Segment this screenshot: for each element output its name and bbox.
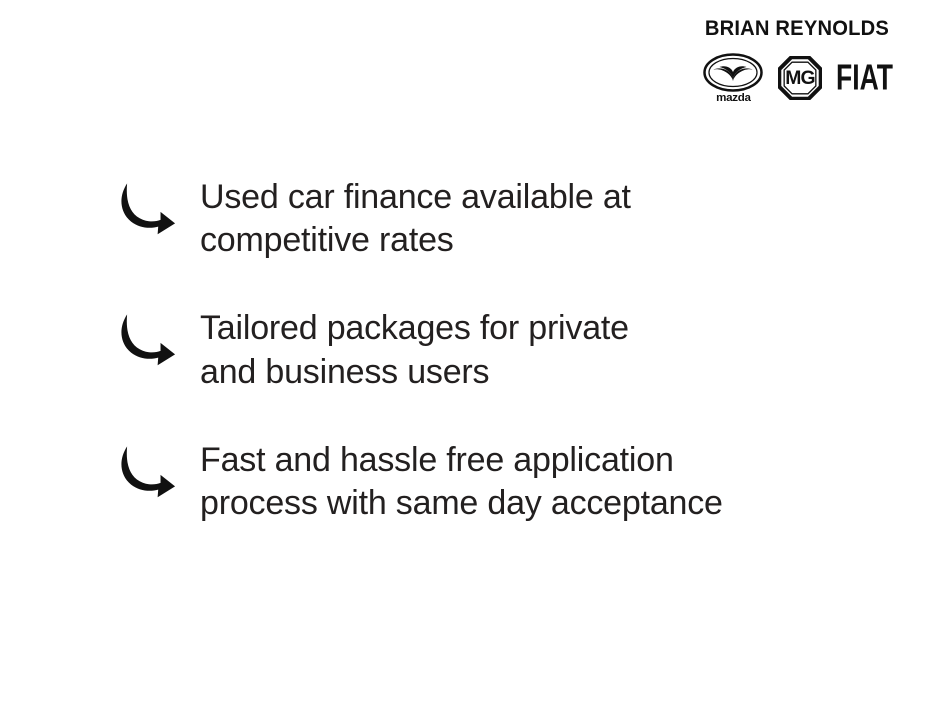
list-item: Fast and hassle free application process… <box>115 439 875 525</box>
curved-arrow-icon <box>115 309 177 371</box>
benefits-list: Used car finance available at competitiv… <box>115 176 875 525</box>
list-item-text: Fast and hassle free application process… <box>200 439 875 525</box>
curved-arrow-icon <box>115 441 177 503</box>
curved-arrow-icon <box>115 178 177 240</box>
mazda-emblem-icon <box>703 53 763 92</box>
dealer-name: BRIAN REYNOLDS <box>705 18 889 39</box>
fiat-wordmark: FIAT <box>836 60 893 96</box>
list-item: Tailored packages for private and busine… <box>115 307 875 393</box>
list-item-text: Used car finance available at competitiv… <box>200 176 875 262</box>
branding-block: BRIAN REYNOLDS mazda MG FIAT <box>692 18 902 106</box>
mg-logo: MG <box>778 56 822 100</box>
list-item-text: Tailored packages for private and busine… <box>200 307 875 393</box>
svg-text:MG: MG <box>785 67 814 89</box>
fiat-logo: FIAT <box>837 61 891 95</box>
mazda-logo: mazda <box>703 53 763 104</box>
mg-emblem-icon: MG <box>778 56 822 100</box>
brand-logo-row: mazda MG FIAT <box>703 50 891 106</box>
list-item: Used car finance available at competitiv… <box>115 176 875 262</box>
mazda-wordmark: mazda <box>716 93 750 104</box>
